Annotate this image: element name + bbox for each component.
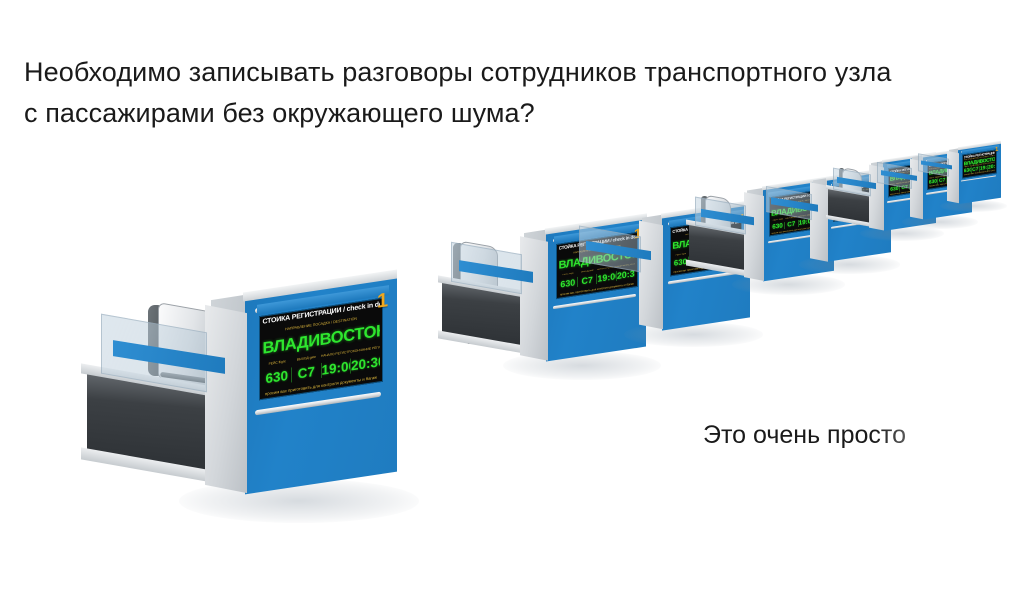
display-board-holder[interactable]: СТОЙКА РЕГИСТРАЦИИ / check in deskНАПРАВ… [962, 149, 997, 178]
board-column-header: НАЧАЛО РЕГИСТРАЦИИ check in open [321, 350, 350, 358]
board-column-header: ОКОНЧАНИЕ РЕГИСТРАЦИИ check in close [350, 346, 379, 354]
board-value: C7 [292, 363, 322, 382]
counter-side-panel [810, 182, 828, 261]
board-value: 630 [558, 277, 577, 290]
board-value: 19:00 [597, 271, 616, 284]
desk-number-badge: 1 [377, 290, 388, 312]
page-title: Необходимо записывать разговоры сотрудни… [24, 52, 1004, 134]
board-value: 20:30 [351, 355, 380, 374]
counter-side-panel [520, 236, 548, 360]
board-value: C7 [785, 220, 799, 229]
flight-info-display[interactable]: СТОЙКА РЕГИСТРАЦИИ / check in deskНАПРАВ… [962, 149, 997, 178]
board-column-header: ВЫХОД gate [292, 354, 321, 362]
board-column-header: ВЫХОД gate [577, 269, 596, 274]
board-column-header: РЕЙС flight [262, 359, 291, 367]
board-column-header: РЕЙС flight [558, 272, 577, 277]
desk-number-badge: 1 [995, 147, 998, 153]
board-value: C7 [578, 274, 597, 287]
board-value: 19:00 [322, 359, 352, 378]
board-value: 630 [262, 368, 292, 387]
slide-canvas: СТОЙКА РЕГИСТРАЦИИ / check in deskНАПРАВ… [0, 0, 1024, 600]
counter-side-panel [205, 305, 247, 493]
counter-side-panel [744, 192, 764, 280]
caption-text: Это очень просто [703, 418, 906, 452]
board-value: 630 [772, 222, 786, 231]
board-column-header: РЕЙС flight [673, 252, 690, 257]
counter-side-panel [639, 221, 663, 330]
